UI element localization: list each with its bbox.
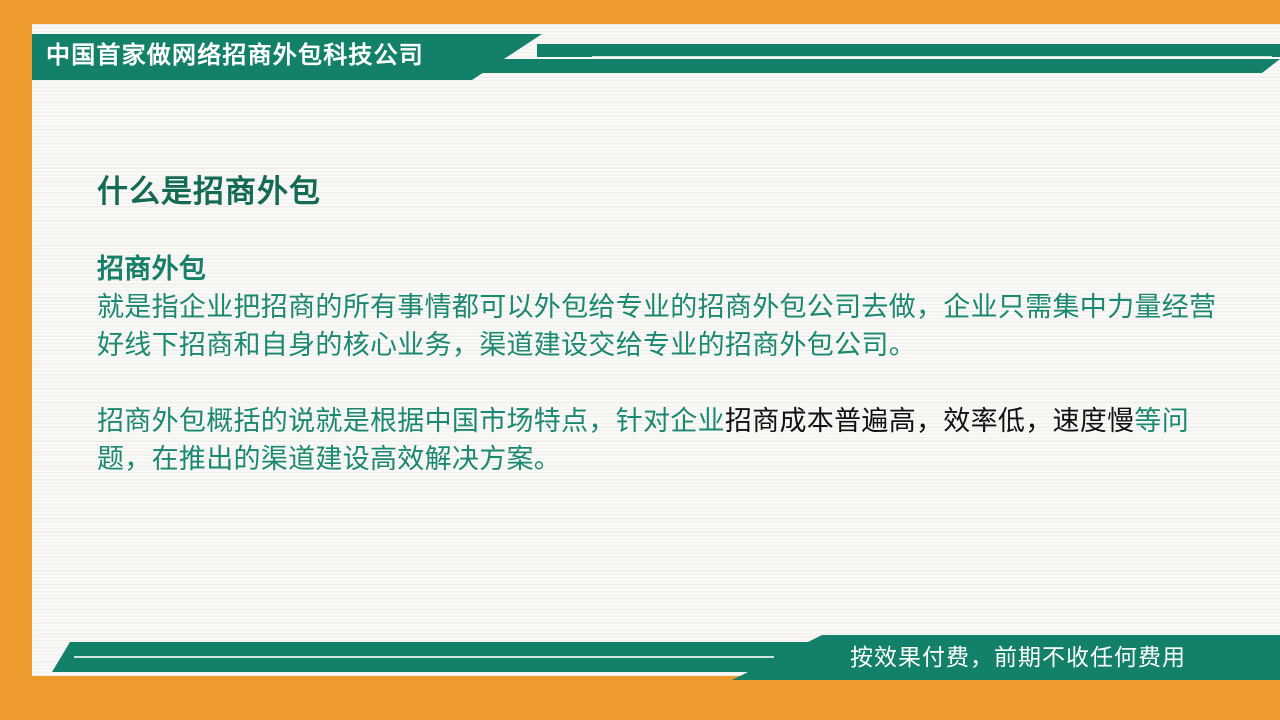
paragraph-summary: 招商外包概括的说就是根据中国市场特点，针对企业招商成本普遍高，效率低，速度慢等问… [97,402,1232,478]
paragraph-lead-term: 招商外包 [97,250,1232,288]
content-area: 什么是招商外包 招商外包就是指企业把招商的所有事情都可以外包给专业的招商外包公司… [97,170,1232,478]
summary-highlight-2: 速度慢 [1053,406,1135,436]
header-lower-bar [472,59,1280,73]
footer-tagline: 按效果付费，前期不收任何费用 [850,640,1186,674]
summary-highlight-1: 招商成本普遍高，效率低， [725,406,1053,436]
paragraph-spacer [97,364,1232,402]
summary-segment-1: 招商外包概括的说就是根据中国市场特点，针对企业 [97,406,725,436]
header-title: 中国首家做网络招商外包科技公司 [46,38,424,74]
page-title: 什么是招商外包 [97,170,1232,214]
paragraph-line-1: 就是指企业把招商的所有事情都可以外包给专业的招商外包公司去做，企 [97,292,971,322]
slide-root: 中国首家做网络招商外包科技公司 什么是招商外包 招商外包就是指企业把招商的所有事… [0,0,1280,720]
paragraph-definition: 招商外包就是指企业把招商的所有事情都可以外包给专业的招商外包公司去做，企业只需集… [97,250,1232,364]
footer-divider-line [74,656,774,658]
header-divider-line [592,56,1272,58]
footer-banner: 按效果付费，前期不收任何费用 [32,632,1280,688]
paragraph-line-3: 招商外包公司。 [725,330,916,360]
header-banner: 中国首家做网络招商外包科技公司 [32,34,1280,90]
